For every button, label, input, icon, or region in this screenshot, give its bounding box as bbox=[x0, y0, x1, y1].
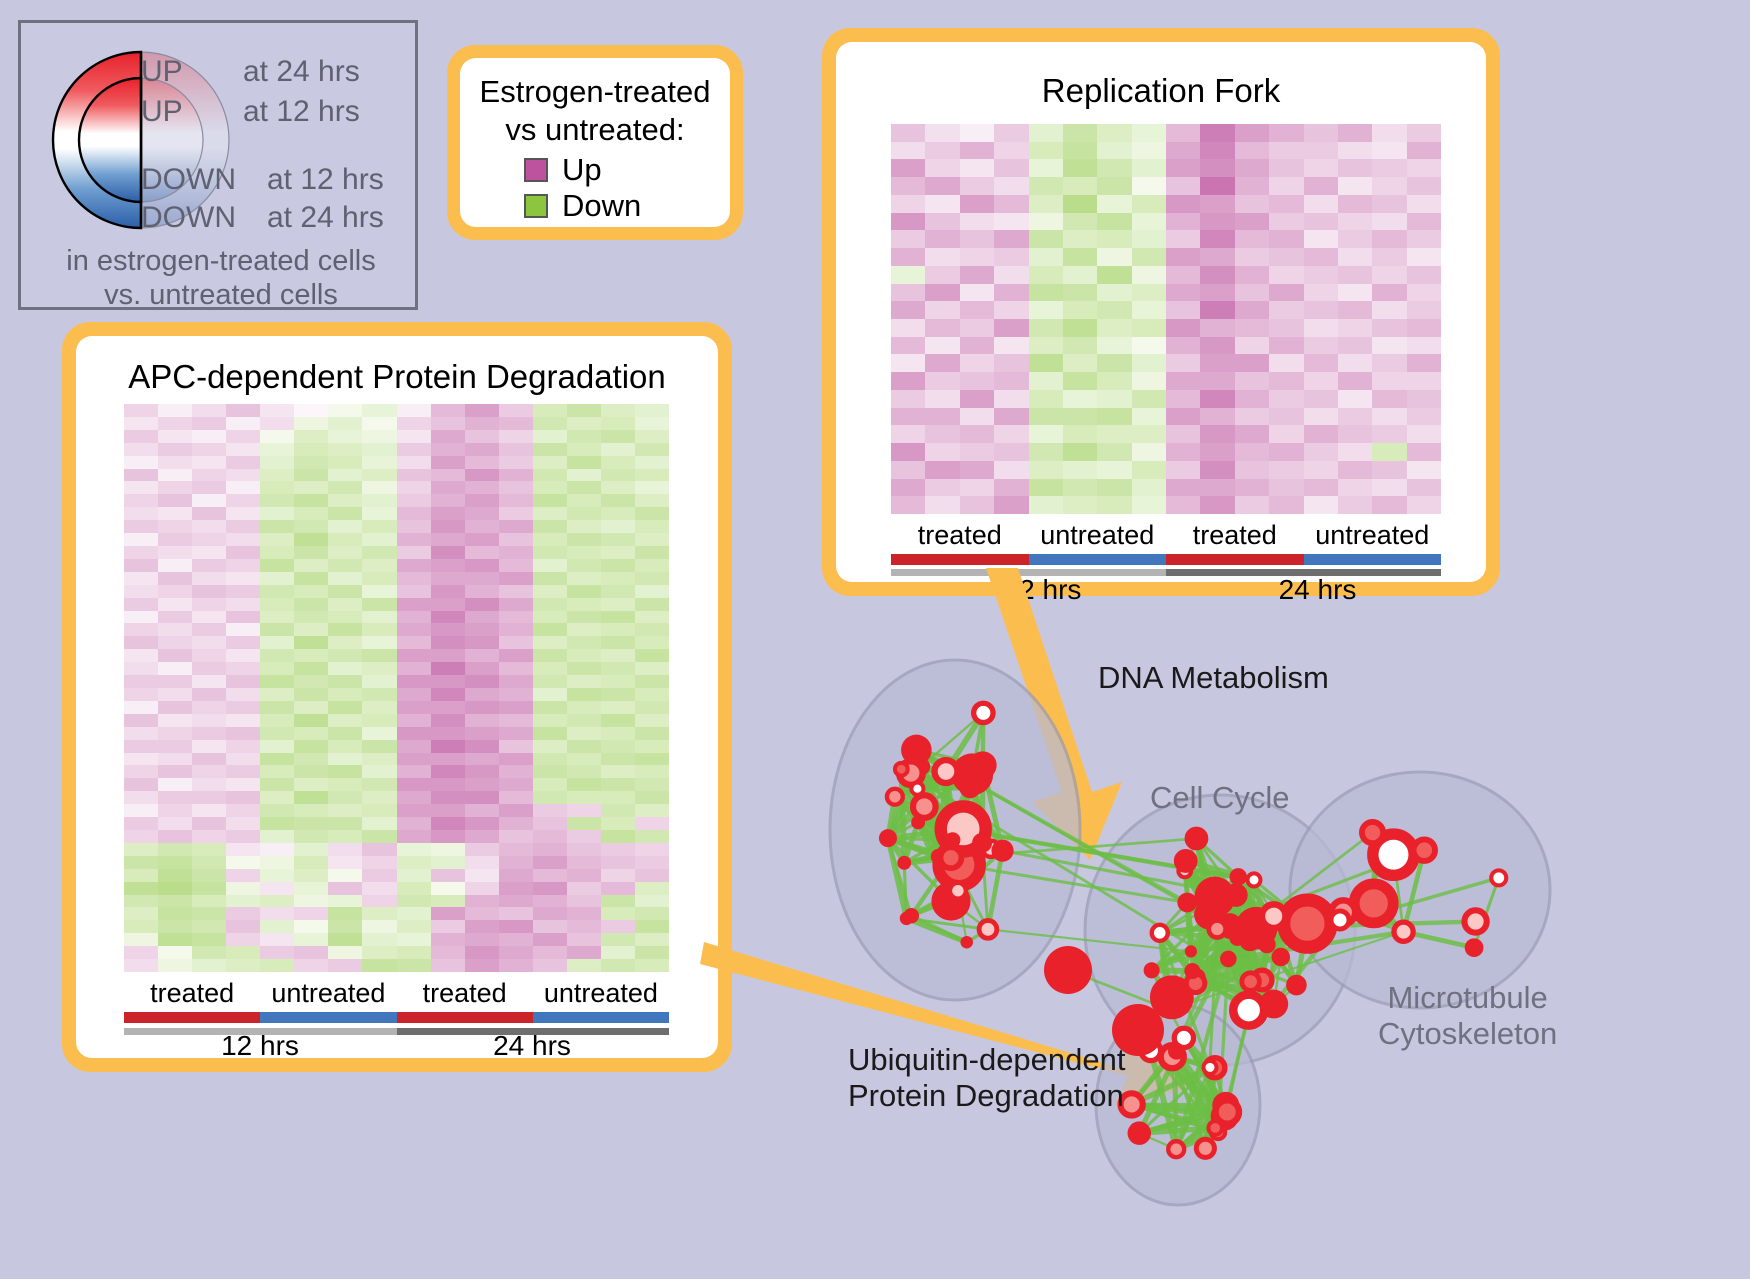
heatmap-cell bbox=[465, 585, 499, 598]
heatmap-cell bbox=[1304, 461, 1338, 479]
network-node bbox=[972, 833, 992, 853]
heatmap-cell bbox=[925, 408, 959, 426]
heatmap-cell bbox=[226, 856, 260, 869]
heatmap-cell bbox=[260, 701, 294, 714]
legend-item-up: Up bbox=[524, 152, 602, 188]
key-time-up-12: at 12 hrs bbox=[243, 95, 360, 129]
heatmap-cell bbox=[891, 177, 925, 195]
apc-panel: APC-dependent Protein Degradation treate… bbox=[62, 322, 732, 1072]
column-group-label: treated bbox=[124, 978, 260, 1010]
heatmap-cell bbox=[1132, 124, 1166, 142]
heatmap-cell bbox=[601, 830, 635, 843]
heatmap-cell bbox=[362, 869, 396, 882]
heatmap-cell bbox=[1132, 213, 1166, 231]
heatmap-cell bbox=[1166, 479, 1200, 497]
heatmap-cell bbox=[499, 753, 533, 766]
heatmap-cell bbox=[1372, 195, 1406, 213]
heatmap-cell bbox=[601, 946, 635, 959]
heatmap-cell bbox=[601, 804, 635, 817]
heatmap-cell bbox=[192, 481, 226, 494]
heatmap-cell bbox=[362, 907, 396, 920]
heatmap-cell bbox=[567, 727, 601, 740]
heatmap-cell bbox=[124, 404, 158, 417]
heatmap-cell bbox=[1269, 230, 1303, 248]
heatmap-cell bbox=[1407, 248, 1441, 266]
apc-title: APC-dependent Protein Degradation bbox=[76, 358, 718, 396]
heatmap-cell bbox=[925, 159, 959, 177]
heatmap-cell bbox=[499, 791, 533, 804]
heatmap-cell bbox=[1200, 443, 1234, 461]
network-node bbox=[1170, 1045, 1183, 1058]
heatmap-cell bbox=[567, 559, 601, 572]
heatmap-cell bbox=[294, 959, 328, 972]
heatmap-cell bbox=[533, 533, 567, 546]
heatmap-cell bbox=[891, 195, 925, 213]
heatmap-cell bbox=[1269, 142, 1303, 160]
heatmap-cell bbox=[124, 598, 158, 611]
heatmap-cell bbox=[499, 636, 533, 649]
cluster-label-microtubule-cytoskeleton: Microtubule Cytoskeleton bbox=[1378, 980, 1557, 1051]
network-node bbox=[1242, 973, 1260, 991]
heatmap-cell bbox=[1338, 408, 1372, 426]
color-key-box: UP at 24 hrs UP at 12 hrs DOWN at 12 hrs… bbox=[18, 20, 418, 310]
heatmap-cell bbox=[601, 559, 635, 572]
heatmap-cell bbox=[533, 662, 567, 675]
heatmap-cell bbox=[431, 636, 465, 649]
apc-heatmap bbox=[124, 404, 669, 972]
heatmap-cell bbox=[960, 408, 994, 426]
heatmap-cell bbox=[567, 843, 601, 856]
heatmap-cell bbox=[1407, 425, 1441, 443]
heatmap-cell bbox=[567, 804, 601, 817]
heatmap-cell bbox=[1063, 408, 1097, 426]
heatmap-cell bbox=[499, 507, 533, 520]
heatmap-cell bbox=[397, 456, 431, 469]
heatmap-cell bbox=[192, 559, 226, 572]
heatmap-cell bbox=[1372, 372, 1406, 390]
heatmap-cell bbox=[1166, 496, 1200, 514]
heatmap-cell bbox=[397, 778, 431, 791]
heatmap-cell bbox=[1407, 266, 1441, 284]
heatmap-cell bbox=[635, 869, 669, 882]
heatmap-cell bbox=[362, 882, 396, 895]
heatmap-cell bbox=[431, 598, 465, 611]
heatmap-cell bbox=[1269, 319, 1303, 337]
legend-swatch-down-icon bbox=[524, 194, 548, 218]
legend-label-up: Up bbox=[562, 152, 602, 188]
heatmap-cell bbox=[1338, 230, 1372, 248]
heatmap-cell bbox=[567, 494, 601, 507]
heatmap-cell bbox=[294, 727, 328, 740]
heatmap-cell bbox=[124, 469, 158, 482]
heatmap-cell bbox=[431, 662, 465, 675]
heatmap-cell bbox=[1029, 142, 1063, 160]
heatmap-cell bbox=[362, 533, 396, 546]
network-node bbox=[959, 776, 981, 798]
heatmap-cell bbox=[567, 481, 601, 494]
heatmap-cell bbox=[635, 765, 669, 778]
heatmap-cell bbox=[192, 520, 226, 533]
heatmap-cell bbox=[533, 443, 567, 456]
heatmap-cell bbox=[567, 907, 601, 920]
heatmap-cell bbox=[465, 817, 499, 830]
heatmap-cell bbox=[124, 662, 158, 675]
heatmap-cell bbox=[567, 869, 601, 882]
heatmap-cell bbox=[465, 714, 499, 727]
heatmap-cell bbox=[362, 714, 396, 727]
heatmap-cell bbox=[601, 675, 635, 688]
heatmap-cell bbox=[1338, 124, 1372, 142]
heatmap-cell bbox=[635, 598, 669, 611]
heatmap-cell bbox=[567, 636, 601, 649]
group-bar-segment-untreated bbox=[1304, 554, 1442, 565]
heatmap-cell bbox=[465, 843, 499, 856]
heatmap-cell bbox=[635, 520, 669, 533]
heatmap-cell bbox=[192, 804, 226, 817]
heatmap-cell bbox=[1063, 496, 1097, 514]
heatmap-cell bbox=[465, 417, 499, 430]
heatmap-cell bbox=[1029, 213, 1063, 231]
heatmap-cell bbox=[891, 124, 925, 142]
heatmap-cell bbox=[260, 636, 294, 649]
heatmap-cell bbox=[192, 494, 226, 507]
heatmap-cell bbox=[158, 662, 192, 675]
heatmap-cell bbox=[1132, 479, 1166, 497]
heatmap-cell bbox=[260, 417, 294, 430]
heatmap-cell bbox=[1372, 177, 1406, 195]
heatmap-cell bbox=[1235, 443, 1269, 461]
heatmap-cell bbox=[192, 765, 226, 778]
heatmap-cell bbox=[1338, 195, 1372, 213]
heatmap-cell bbox=[635, 443, 669, 456]
heatmap-cell bbox=[1097, 301, 1131, 319]
heatmap-cell bbox=[158, 701, 192, 714]
heatmap-cell bbox=[158, 546, 192, 559]
heatmap-cell bbox=[567, 946, 601, 959]
heatmap-cell bbox=[431, 417, 465, 430]
heatmap-cell bbox=[1097, 159, 1131, 177]
heatmap-cell bbox=[226, 533, 260, 546]
heatmap-cell bbox=[635, 469, 669, 482]
heatmap-cell bbox=[601, 520, 635, 533]
heatmap-cell bbox=[601, 701, 635, 714]
heatmap-cell bbox=[465, 430, 499, 443]
heatmap-cell bbox=[1338, 248, 1372, 266]
heatmap-cell bbox=[397, 843, 431, 856]
heatmap-cell bbox=[1269, 301, 1303, 319]
heatmap-cell bbox=[533, 714, 567, 727]
heatmap-cell bbox=[1097, 266, 1131, 284]
heatmap-cell bbox=[158, 598, 192, 611]
heatmap-cell bbox=[601, 611, 635, 624]
heatmap-cell bbox=[1200, 301, 1234, 319]
apc-inner: APC-dependent Protein Degradation treate… bbox=[76, 336, 718, 1058]
heatmap-cell bbox=[567, 830, 601, 843]
heatmap-cell bbox=[1304, 337, 1338, 355]
heatmap-cell bbox=[499, 417, 533, 430]
heatmap-cell bbox=[226, 675, 260, 688]
heatmap-cell bbox=[431, 765, 465, 778]
heatmap-cell bbox=[465, 636, 499, 649]
heatmap-cell bbox=[635, 572, 669, 585]
heatmap-cell bbox=[960, 195, 994, 213]
heatmap-cell bbox=[1097, 213, 1131, 231]
network-node bbox=[911, 783, 923, 795]
heatmap-cell bbox=[499, 456, 533, 469]
heatmap-cell bbox=[891, 461, 925, 479]
heatmap-cell bbox=[226, 830, 260, 843]
heatmap-cell bbox=[1372, 443, 1406, 461]
heatmap-cell bbox=[465, 649, 499, 662]
heatmap-cell bbox=[260, 443, 294, 456]
heatmap-cell bbox=[158, 907, 192, 920]
heatmap-cell bbox=[925, 390, 959, 408]
key-note-line2: vs. untreated cells bbox=[21, 279, 421, 312]
heatmap-cell bbox=[533, 740, 567, 753]
heatmap-cell bbox=[294, 740, 328, 753]
heatmap-cell bbox=[533, 675, 567, 688]
heatmap-cell bbox=[124, 791, 158, 804]
heatmap-cell bbox=[1063, 124, 1097, 142]
heatmap-cell bbox=[226, 765, 260, 778]
heatmap-cell bbox=[533, 791, 567, 804]
heatmap-cell bbox=[601, 430, 635, 443]
heatmap-cell bbox=[226, 662, 260, 675]
heatmap-cell bbox=[601, 623, 635, 636]
heatmap-cell bbox=[567, 469, 601, 482]
heatmap-cell bbox=[362, 675, 396, 688]
heatmap-cell bbox=[294, 856, 328, 869]
heatmap-cell bbox=[362, 688, 396, 701]
heatmap-cell bbox=[499, 765, 533, 778]
heatmap-cell bbox=[994, 195, 1028, 213]
heatmap-cell bbox=[226, 611, 260, 624]
heatmap-cell bbox=[158, 494, 192, 507]
heatmap-cell bbox=[260, 778, 294, 791]
heatmap-cell bbox=[499, 481, 533, 494]
heatmap-cell bbox=[158, 456, 192, 469]
heatmap-cell bbox=[533, 572, 567, 585]
heatmap-cell bbox=[397, 598, 431, 611]
network-node bbox=[1491, 870, 1506, 885]
heatmap-cell bbox=[294, 701, 328, 714]
heatmap-cell bbox=[465, 675, 499, 688]
heatmap-cell bbox=[533, 804, 567, 817]
heatmap-cell bbox=[533, 623, 567, 636]
heatmap-cell bbox=[1029, 301, 1063, 319]
heatmap-cell bbox=[1166, 443, 1200, 461]
heatmap-cell bbox=[124, 830, 158, 843]
heatmap-cell bbox=[158, 469, 192, 482]
heatmap-cell bbox=[431, 688, 465, 701]
heatmap-cell bbox=[1200, 479, 1234, 497]
heatmap-cell bbox=[294, 611, 328, 624]
heatmap-cell bbox=[431, 817, 465, 830]
heatmap-cell bbox=[1166, 354, 1200, 372]
heatmap-cell bbox=[1407, 124, 1441, 142]
heatmap-cell bbox=[635, 611, 669, 624]
heatmap-cell bbox=[1063, 266, 1097, 284]
heatmap-cell bbox=[1097, 319, 1131, 337]
heatmap-cell bbox=[533, 585, 567, 598]
heatmap-cell bbox=[192, 907, 226, 920]
heatmap-cell bbox=[1097, 372, 1131, 390]
heatmap-cell bbox=[1235, 230, 1269, 248]
heatmap-cell bbox=[294, 804, 328, 817]
heatmap-cell bbox=[925, 248, 959, 266]
heatmap-cell bbox=[226, 791, 260, 804]
heatmap-cell bbox=[1235, 177, 1269, 195]
legend-swatch-up-icon bbox=[524, 158, 548, 182]
column-group-label: untreated bbox=[533, 978, 669, 1010]
heatmap-cell bbox=[533, 688, 567, 701]
heatmap-cell bbox=[994, 496, 1028, 514]
heatmap-cell bbox=[192, 417, 226, 430]
heatmap-cell bbox=[124, 895, 158, 908]
heatmap-cell bbox=[158, 417, 192, 430]
heatmap-cell bbox=[294, 933, 328, 946]
heatmap-cell bbox=[465, 481, 499, 494]
heatmap-cell bbox=[397, 856, 431, 869]
heatmap-cell bbox=[260, 611, 294, 624]
heatmap-cell bbox=[567, 933, 601, 946]
heatmap-cell bbox=[260, 456, 294, 469]
heatmap-cell bbox=[1304, 213, 1338, 231]
heatmap-cell bbox=[891, 284, 925, 302]
heatmap-cell bbox=[891, 159, 925, 177]
heatmap-cell bbox=[1200, 390, 1234, 408]
heatmap-cell bbox=[328, 623, 362, 636]
heatmap-cell bbox=[124, 933, 158, 946]
heatmap-cell bbox=[124, 559, 158, 572]
heatmap-cell bbox=[601, 765, 635, 778]
heatmap-cell bbox=[294, 895, 328, 908]
heatmap-cell bbox=[124, 585, 158, 598]
heatmap-cell bbox=[601, 933, 635, 946]
heatmap-cell bbox=[1132, 266, 1166, 284]
heatmap-cell bbox=[533, 559, 567, 572]
heatmap-cell bbox=[1132, 177, 1166, 195]
heatmap-cell bbox=[192, 456, 226, 469]
heatmap-cell bbox=[431, 843, 465, 856]
heatmap-cell bbox=[124, 546, 158, 559]
network-node bbox=[1394, 922, 1413, 941]
heatmap-cell bbox=[397, 688, 431, 701]
heatmap-cell bbox=[960, 319, 994, 337]
heatmap-cell bbox=[226, 740, 260, 753]
heatmap-cell bbox=[1338, 301, 1372, 319]
heatmap-cell bbox=[601, 546, 635, 559]
heatmap-cell bbox=[294, 882, 328, 895]
heatmap-cell bbox=[465, 469, 499, 482]
heatmap-cell bbox=[533, 611, 567, 624]
heatmap-cell bbox=[226, 727, 260, 740]
heatmap-cell bbox=[1304, 266, 1338, 284]
heatmap-cell bbox=[925, 195, 959, 213]
heatmap-cell bbox=[260, 662, 294, 675]
heatmap-cell bbox=[1269, 496, 1303, 514]
heatmap-cell bbox=[124, 740, 158, 753]
heatmap-cell bbox=[1200, 124, 1234, 142]
heatmap-cell bbox=[1029, 390, 1063, 408]
legend-title-line1: Estrogen-treated bbox=[460, 74, 730, 110]
heatmap-cell bbox=[328, 585, 362, 598]
heatmap-cell bbox=[260, 946, 294, 959]
heatmap-cell bbox=[1097, 479, 1131, 497]
heatmap-cell bbox=[397, 636, 431, 649]
heatmap-cell bbox=[635, 907, 669, 920]
network-node bbox=[1209, 921, 1226, 938]
heatmap-cell bbox=[1372, 266, 1406, 284]
heatmap-cell bbox=[294, 559, 328, 572]
heatmap-cell bbox=[397, 546, 431, 559]
heatmap-cell bbox=[465, 598, 499, 611]
heatmap-cell bbox=[260, 740, 294, 753]
heatmap-cell bbox=[601, 572, 635, 585]
heatmap-cell bbox=[1132, 319, 1166, 337]
heatmap-cell bbox=[601, 817, 635, 830]
heatmap-cell bbox=[328, 559, 362, 572]
heatmap-cell bbox=[124, 533, 158, 546]
heatmap-cell bbox=[328, 469, 362, 482]
heatmap-cell bbox=[158, 649, 192, 662]
heatmap-cell bbox=[465, 443, 499, 456]
heatmap-cell bbox=[294, 430, 328, 443]
heatmap-cell bbox=[158, 920, 192, 933]
heatmap-cell bbox=[1304, 301, 1338, 319]
network-node bbox=[913, 795, 936, 818]
heatmap-cell bbox=[601, 481, 635, 494]
heatmap-cell bbox=[124, 946, 158, 959]
heatmap-cell bbox=[925, 372, 959, 390]
heatmap-cell bbox=[499, 907, 533, 920]
heatmap-cell bbox=[499, 830, 533, 843]
heatmap-cell bbox=[567, 675, 601, 688]
heatmap-cell bbox=[397, 753, 431, 766]
heatmap-cell bbox=[328, 443, 362, 456]
heatmap-cell bbox=[397, 611, 431, 624]
heatmap-cell bbox=[158, 830, 192, 843]
heatmap-cell bbox=[362, 701, 396, 714]
heatmap-cell bbox=[533, 843, 567, 856]
heatmap-cell bbox=[1269, 372, 1303, 390]
heatmap-cell bbox=[567, 507, 601, 520]
apc-group-bar bbox=[124, 1012, 669, 1023]
heatmap-cell bbox=[1200, 142, 1234, 160]
heatmap-cell bbox=[533, 727, 567, 740]
heatmap-cell bbox=[294, 623, 328, 636]
heatmap-cell bbox=[1372, 142, 1406, 160]
heatmap-cell bbox=[635, 714, 669, 727]
heatmap-cell bbox=[499, 443, 533, 456]
heatmap-cell bbox=[260, 830, 294, 843]
heatmap-cell bbox=[158, 843, 192, 856]
heatmap-cell bbox=[465, 623, 499, 636]
heatmap-cell bbox=[1029, 230, 1063, 248]
heatmap-cell bbox=[994, 461, 1028, 479]
heatmap-cell bbox=[1338, 142, 1372, 160]
heatmap-cell bbox=[294, 404, 328, 417]
legend-title-line2: vs untreated: bbox=[460, 112, 730, 148]
heatmap-cell bbox=[601, 740, 635, 753]
heatmap-cell bbox=[994, 408, 1028, 426]
heatmap-cell bbox=[192, 959, 226, 972]
heatmap-cell bbox=[328, 843, 362, 856]
heatmap-cell bbox=[431, 701, 465, 714]
heatmap-cell bbox=[1338, 337, 1372, 355]
heatmap-cell bbox=[601, 907, 635, 920]
heatmap-cell bbox=[328, 417, 362, 430]
